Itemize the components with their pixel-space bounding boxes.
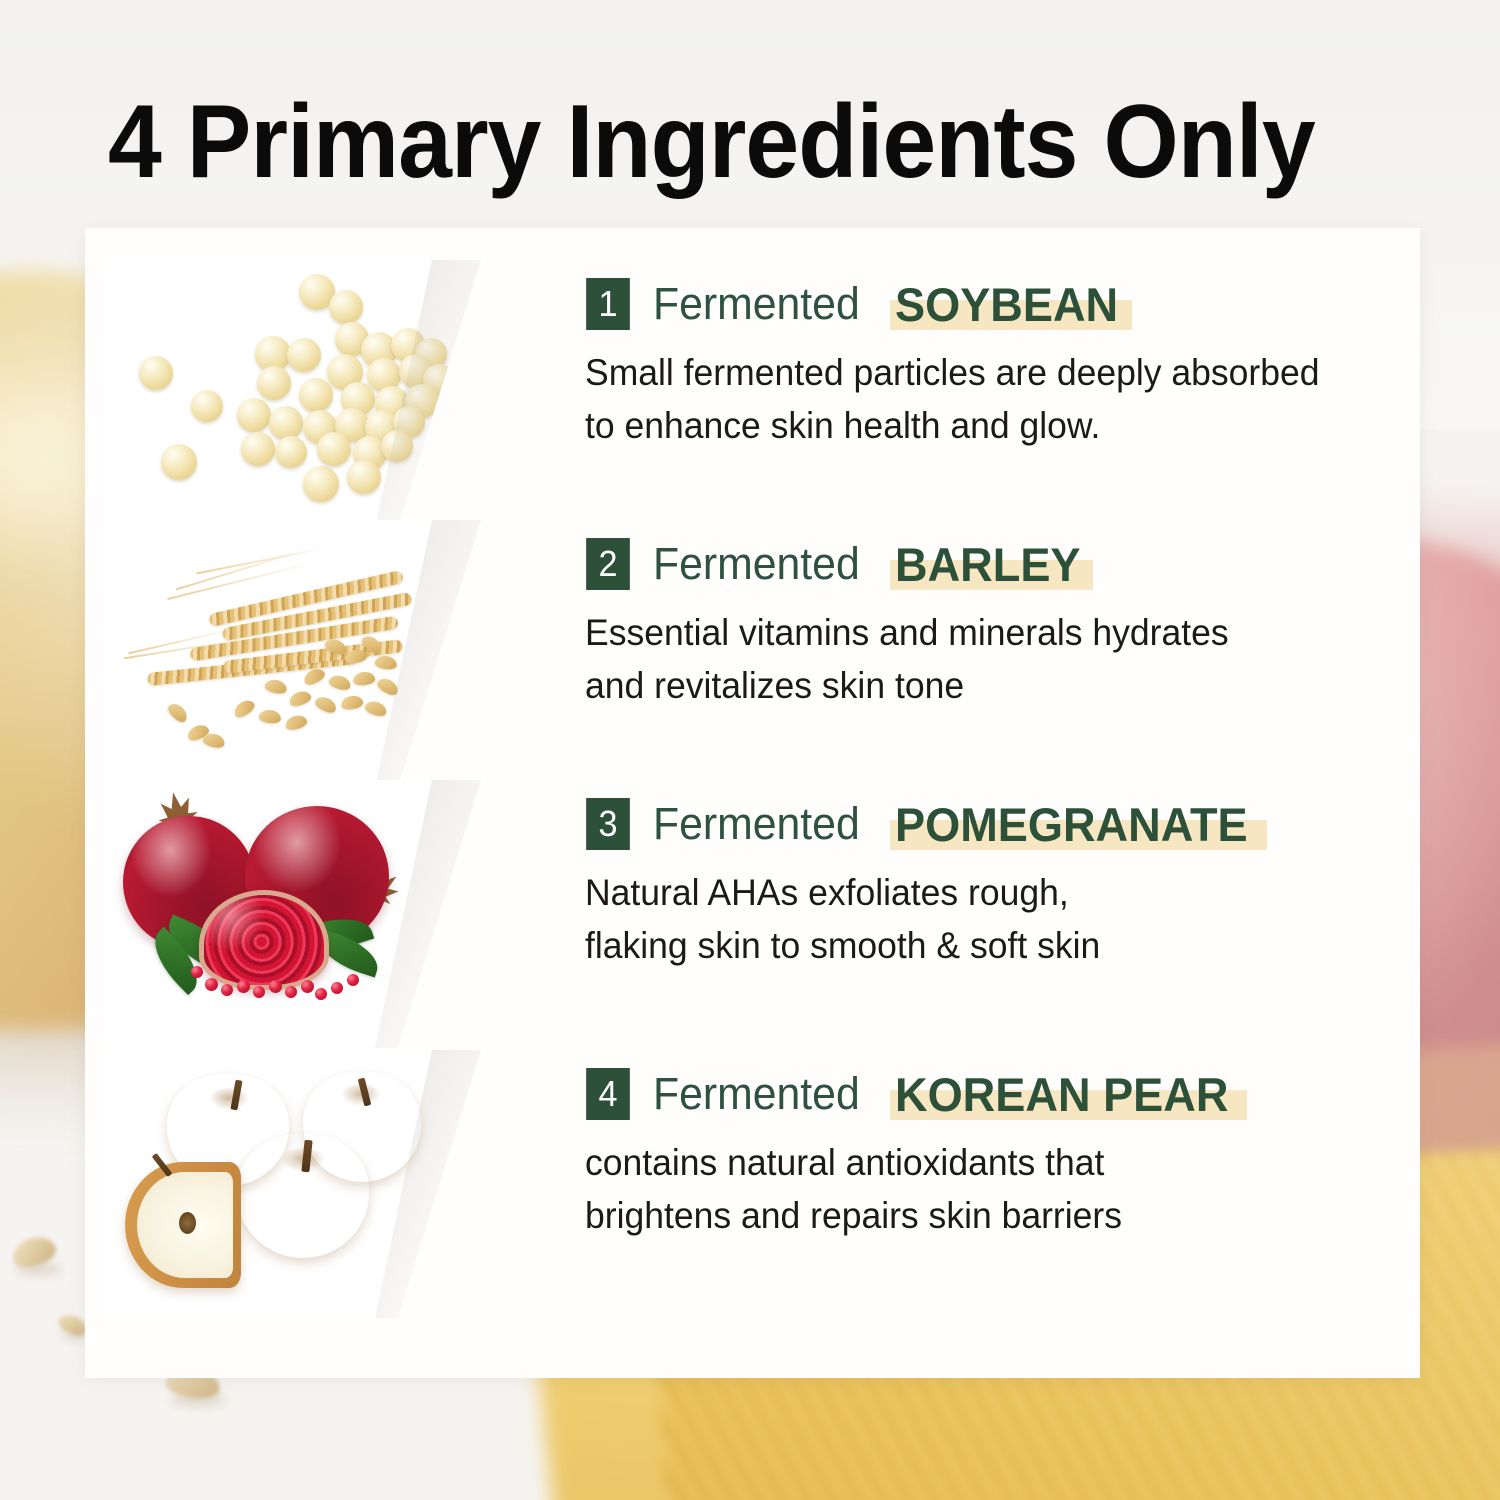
ingredient-prefix: Fermented [653, 538, 860, 590]
ingredient-name-wrap: KOREAN PEAR [895, 1067, 1242, 1122]
description-line: Small fermented particles are deeply abs… [585, 346, 1391, 399]
pomegranate-text: 3 Fermented POMEGRANATE Natural AHAs exf… [585, 780, 1385, 1048]
ingredient-prefix: Fermented [653, 1068, 860, 1120]
ingredient-prefix: Fermented [653, 278, 860, 330]
ingredient-name: BARLEY [895, 537, 1081, 592]
ingredient-number-badge: 1 [586, 278, 630, 330]
pomegranate-photo [103, 780, 481, 1048]
description-line: flaking skin to smooth & soft skin [585, 919, 1391, 972]
description-line: contains natural antioxidants that [585, 1136, 1391, 1189]
pomegranate-headline: 3 Fermented POMEGRANATE [585, 796, 1262, 852]
description-line: Essential vitamins and minerals hydrates [585, 606, 1391, 659]
ingredient-name: POMEGRANATE [895, 797, 1248, 852]
ingredient-name: KOREAN PEAR [895, 1067, 1228, 1122]
korean-pear-photo [103, 1050, 481, 1318]
description-line: Natural AHAs exfoliates rough, [585, 866, 1391, 919]
ingredient-name-wrap: POMEGRANATE [895, 797, 1262, 852]
ingredient-number-badge: 3 [586, 798, 630, 850]
description-line: to enhance skin health and glow. [585, 399, 1391, 452]
ingredient-number-badge: 2 [586, 538, 630, 590]
korean-pear-text: 4 Fermented KOREAN PEAR contains natural… [585, 1050, 1385, 1318]
barley-description: Essential vitamins and minerals hydrates… [585, 606, 1391, 712]
ingredient-row-soybean: 1 Fermented SOYBEAN Small fermented part… [85, 260, 1420, 528]
ingredient-name-wrap: BARLEY [895, 537, 1088, 592]
barley-photo [103, 520, 481, 788]
ingredient-name: SOYBEAN [895, 277, 1118, 332]
page-title: 4 Primary Ingredients Only [108, 82, 1336, 202]
ingredient-row-barley: 2 Fermented BARLEY Essential vitamins an… [85, 520, 1420, 788]
description-line: brightens and repairs skin barriers [585, 1189, 1391, 1242]
barley-headline: 2 Fermented BARLEY [585, 536, 1088, 592]
korean-pear-description: contains natural antioxidants that brigh… [585, 1136, 1391, 1242]
soybean-photo [103, 260, 481, 528]
soybean-text: 1 Fermented SOYBEAN Small fermented part… [585, 260, 1385, 528]
soybean-description: Small fermented particles are deeply abs… [585, 346, 1391, 452]
ingredient-number-badge: 4 [586, 1068, 630, 1120]
description-line: and revitalizes skin tone [585, 659, 1391, 712]
ingredient-prefix: Fermented [653, 798, 860, 850]
ingredient-row-korean-pear: 4 Fermented KOREAN PEAR contains natural… [85, 1050, 1420, 1318]
ingredient-name-wrap: SOYBEAN [895, 277, 1127, 332]
ingredient-row-pomegranate: 3 Fermented POMEGRANATE Natural AHAs exf… [85, 780, 1420, 1048]
pomegranate-description: Natural AHAs exfoliates rough, flaking s… [585, 866, 1391, 972]
ingredients-card: 1 Fermented SOYBEAN Small fermented part… [85, 228, 1420, 1378]
soybean-headline: 1 Fermented SOYBEAN [585, 276, 1127, 332]
korean-pear-headline: 4 Fermented KOREAN PEAR [585, 1066, 1242, 1122]
barley-text: 2 Fermented BARLEY Essential vitamins an… [585, 520, 1385, 788]
